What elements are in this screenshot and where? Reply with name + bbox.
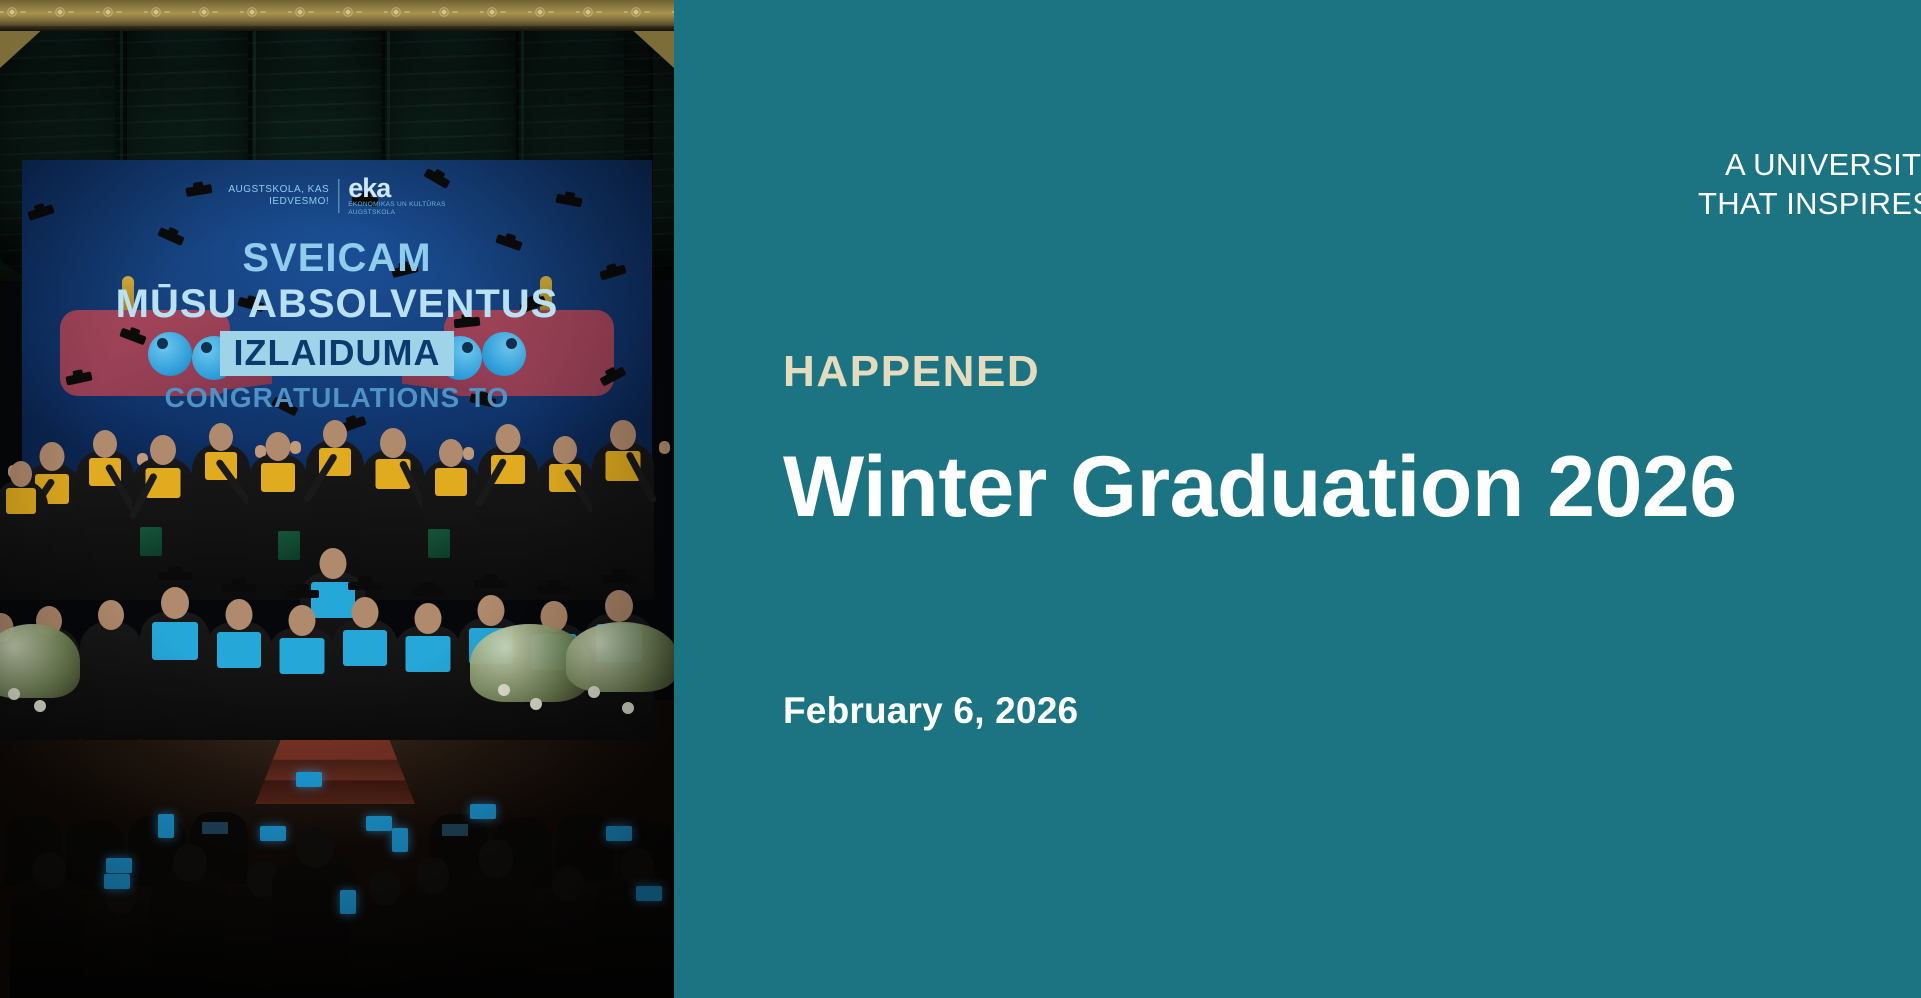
screen-logo-divider <box>338 179 339 213</box>
blossom <box>622 702 634 714</box>
phone-screen <box>636 886 662 901</box>
audience-member <box>596 874 674 998</box>
screen-logo-tagline-2: IEDVESMO! <box>228 196 329 208</box>
logo-tagline-line1: A UNIVERSITY <box>1698 145 1921 184</box>
proscenium-edge <box>0 26 674 31</box>
blossom <box>588 686 600 698</box>
screen-eka-logo: AUGSTSKOLA, KAS IEDVESMO! eka EKONOMIKAS… <box>228 176 445 216</box>
phone-screen <box>260 826 286 841</box>
faculty-member <box>140 612 210 740</box>
faculty-member <box>268 628 336 740</box>
faculty-member <box>394 626 462 740</box>
eka-logo-lockup[interactable]: A UNIVERSITY THAT INSPIRES! eka UNIVERSI… <box>1698 78 1921 290</box>
audience-member <box>84 902 158 998</box>
audience-member <box>272 856 358 998</box>
phone-screen <box>340 890 356 914</box>
phone-screen <box>606 826 632 841</box>
screen-logo-sub-1: EKONOMIKAS UN KULTŪRAS <box>348 201 446 209</box>
guest <box>80 622 142 740</box>
graduate <box>536 456 594 600</box>
logo-tagline-line2: THAT INSPIRES! <box>1698 184 1921 223</box>
graduate <box>192 444 250 600</box>
phone-screen <box>296 772 322 787</box>
screen-logo-wordmark: eka <box>348 176 446 201</box>
blossom <box>34 700 46 712</box>
blossom <box>498 684 510 696</box>
faculty-member <box>332 620 398 740</box>
event-status-kicker: HAPPENED <box>783 347 1040 397</box>
graduate <box>76 450 134 600</box>
audience-member <box>530 890 606 998</box>
audience <box>0 790 674 998</box>
screen-headline-line4: CONGRATULATIONS TO <box>22 382 652 414</box>
event-date: February 6, 2026 <box>783 688 1078 734</box>
info-panel: A UNIVERSITY THAT INSPIRES! eka UNIVERSI… <box>674 0 1921 998</box>
graduation-photo: AUGSTSKOLA, KAS IEDVESMO! eka EKONOMIKAS… <box>0 0 674 998</box>
screen-headline-line1: SVEICAM <box>22 236 652 281</box>
proscenium-gold-band <box>0 0 674 26</box>
event-announcement-slide: AUGSTSKOLA, KAS IEDVESMO! eka EKONOMIKAS… <box>0 0 1921 998</box>
faculty-member <box>206 622 272 740</box>
graduate <box>248 454 308 600</box>
event-title: Winter Graduation 2026 <box>783 437 1737 537</box>
floral-arrangement <box>566 622 674 692</box>
screen-headline-line2: MŪSU ABSOLVENTUS <box>22 282 652 327</box>
blossom <box>530 698 542 710</box>
seat-tag <box>202 822 228 834</box>
phone-screen <box>392 828 408 852</box>
screen-headline-line3-wrap: IZLAIDUMA <box>22 332 652 374</box>
screen-headline-line3: IZLAIDUMA <box>220 331 455 376</box>
logo-tagline: A UNIVERSITY THAT INSPIRES! <box>1698 145 1921 223</box>
phone-screen <box>104 874 130 889</box>
phone-screen <box>366 816 392 831</box>
audience-member <box>456 866 536 998</box>
audience-member <box>150 870 230 998</box>
graduate <box>422 460 480 600</box>
screen-logo-tagline-1: AUGSTSKOLA, KAS <box>228 184 329 196</box>
phone-screen <box>106 858 132 873</box>
phone-screen <box>470 804 496 819</box>
blossom <box>8 688 20 700</box>
audience-member <box>10 878 88 998</box>
screen-logo-sub-2: AUGSTSKOLA <box>348 209 446 217</box>
proscenium-ornament <box>0 6 674 19</box>
seat-tag <box>442 824 468 836</box>
phone-screen <box>158 814 174 838</box>
